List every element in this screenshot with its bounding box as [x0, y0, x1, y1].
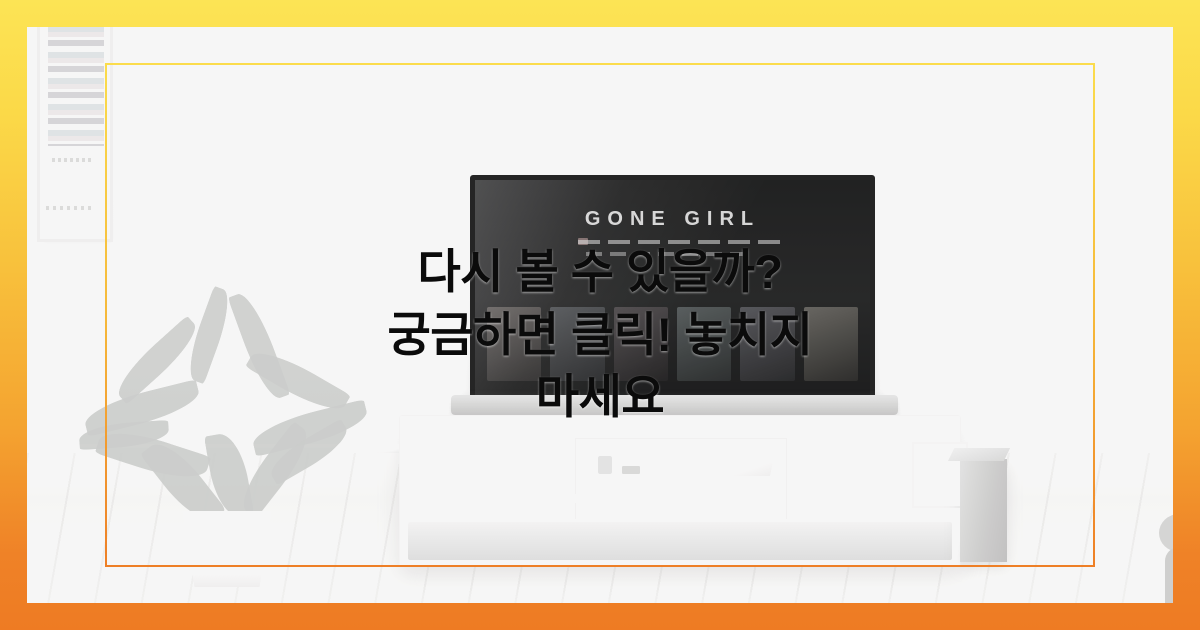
artwork-signature [52, 158, 92, 162]
speaker-top [948, 448, 1010, 461]
artwork-caption [46, 206, 92, 210]
console-shelf-divider [575, 494, 785, 503]
console-tray [660, 458, 774, 476]
console-device-small [622, 466, 640, 474]
framed-artwork [37, 27, 113, 242]
card-inner: GONE GIRL [27, 27, 1173, 603]
media-console [399, 415, 961, 567]
plant-pot [179, 511, 275, 587]
speaker-tower [960, 459, 1007, 562]
thumbnail-card: GONE GIRL [0, 0, 1200, 630]
console-plinth [408, 522, 952, 560]
console-device [598, 456, 612, 474]
headline-text: 다시 볼 수 있을까? 궁금하면 클릭! 놓치지 마세요 [27, 241, 1173, 429]
artwork-stripes [48, 27, 104, 146]
person-body [1165, 547, 1173, 603]
